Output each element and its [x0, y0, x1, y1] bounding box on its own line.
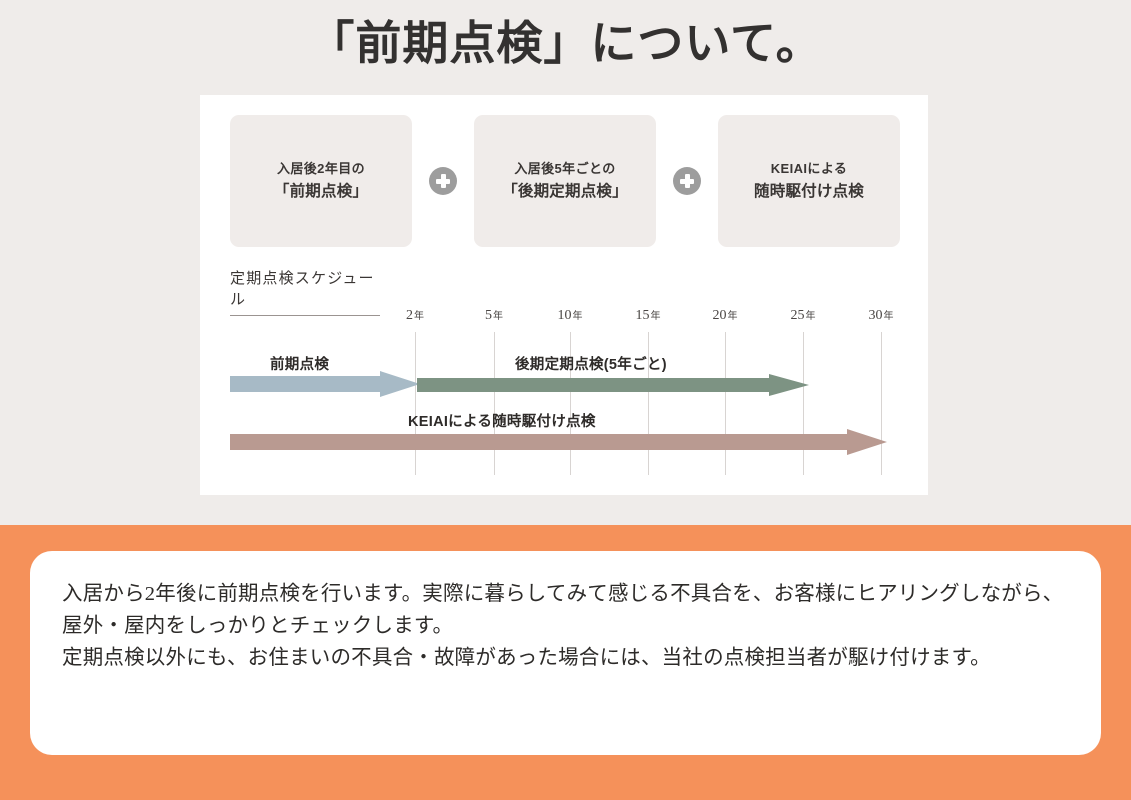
bar-arrow-keiai-kaketsuke [230, 429, 887, 455]
tick-number: 20 [713, 308, 727, 323]
tick-unit: 年 [884, 311, 894, 322]
bar-label-keiai-kaketsuke: KEIAIによる随時駆付け点検 [408, 410, 596, 431]
tick-unit: 年 [651, 311, 661, 322]
tick-unit: 年 [573, 311, 583, 322]
tick-number: 5 [485, 308, 492, 323]
tick-unit: 年 [414, 311, 424, 322]
tick-label: 2年 [406, 307, 424, 324]
tick-label: 25年 [791, 307, 816, 324]
tick-unit: 年 [493, 311, 503, 322]
tick-label: 20年 [713, 307, 738, 324]
tick-unit: 年 [728, 311, 738, 322]
bar-label-kouki-teiki-tenken: 後期定期点検(5年ごと) [515, 353, 667, 374]
tick-number: 25 [791, 308, 805, 323]
tick-number: 2 [406, 308, 413, 323]
tick-unit: 年 [806, 311, 816, 322]
tick-number: 15 [636, 308, 650, 323]
description-paragraph-1: 入居から2年後に前期点検を行います。実際に暮らしてみて感じる不具合を、お客様にヒ… [62, 579, 1069, 643]
description-paragraph-2: 定期点検以外にも、お住まいの不具合・故障があった場合には、当社の点検担当者が駆け… [62, 643, 1069, 675]
bar-arrow-zenki-tenken [230, 371, 420, 397]
page-title: 「前期点検」について。 [0, 14, 1131, 74]
description-card: 入居から2年後に前期点検を行います。実際に暮らしてみて感じる不具合を、お客様にヒ… [30, 551, 1101, 755]
bar-arrow-kouki-teiki-tenken [417, 374, 809, 396]
tick-number: 10 [558, 308, 572, 323]
tick-label: 15年 [636, 307, 661, 324]
timeline-chart: 2年 5年 10年 15年 20年 25年 30年 前期点検 後期定期点検(5年… [200, 95, 928, 495]
tick-label: 5年 [485, 307, 503, 324]
tick-number: 30 [869, 308, 883, 323]
tick-label: 30年 [869, 307, 894, 324]
tick-label: 10年 [558, 307, 583, 324]
diagram-panel: 入居後2年目の 「前期点検」 入居後5年ごとの 「後期定期点検」 KEIAIによ… [200, 95, 928, 495]
